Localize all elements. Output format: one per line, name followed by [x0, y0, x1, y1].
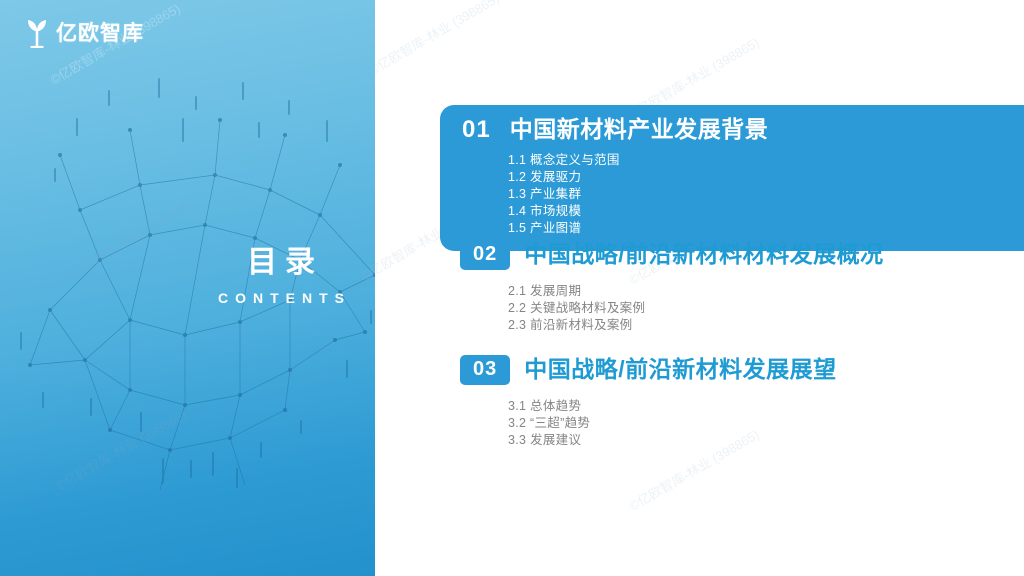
list-item[interactable]: 1.3 产业集群 [508, 186, 1024, 203]
list-item[interactable]: 1.5 产业图谱 [508, 220, 1024, 237]
list-item[interactable]: 1.1 概念定义与范围 [508, 152, 1024, 169]
list-item[interactable]: 1.4 市场规模 [508, 203, 1024, 220]
list-item[interactable]: 3.1 总体趋势 [508, 398, 1024, 415]
toc-title-en: CONTENTS [211, 290, 351, 306]
section-01-number: 01 [462, 118, 491, 142]
section-01-subitems: 1.1 概念定义与范围 1.2 发展驱力 1.3 产业集群 1.4 市场规模 1… [440, 152, 1024, 237]
list-item[interactable]: 1.2 发展驱力 [508, 169, 1024, 186]
section-03-number-badge: 03 [460, 355, 510, 385]
brand-logo: 亿欧智库 [24, 18, 144, 48]
section-03-title: 中国战略/前沿新材料发展展望 [524, 357, 836, 382]
list-item[interactable]: 2.1 发展周期 [508, 283, 1024, 300]
section-01-panel[interactable]: 01 中国新材料产业发展背景 1.1 概念定义与范围 1.2 发展驱力 1.3 … [440, 105, 1024, 251]
brand-logo-text: 亿欧智库 [56, 23, 144, 44]
list-item[interactable]: 2.3 前沿新材料及案例 [508, 317, 1024, 334]
watermark: ©亿欧智库-林业 (398865) [365, 0, 502, 78]
list-item[interactable]: 3.3 发展建议 [508, 432, 1024, 449]
toc-heading: 目录 CONTENTS [211, 246, 351, 306]
sprout-y-logo-icon [24, 18, 50, 48]
section-02-subitems: 2.1 发展周期 2.2 关键战略材料及案例 2.3 前沿新材料及案例 [440, 283, 1024, 334]
section-01-title: 中国新材料产业发展背景 [510, 117, 769, 142]
toc-section-03[interactable]: 03 中国战略/前沿新材料发展展望 3.1 总体趋势 3.2 “三超”趋势 3.… [440, 355, 1024, 449]
slide-root: ©亿欧智库-林业 (398865) ©亿欧智库-林业 (398865) ©亿欧智… [0, 0, 1024, 576]
section-03-header: 03 中国战略/前沿新材料发展展望 [440, 355, 1024, 385]
section-01-header: 01 中国新材料产业发展背景 [440, 117, 1024, 142]
toc-section-01[interactable]: 01 中国新材料产业发展背景 1.1 概念定义与范围 1.2 发展驱力 1.3 … [440, 105, 1024, 251]
section-02-number-badge: 02 [460, 240, 510, 270]
list-item[interactable]: 2.2 关键战略材料及案例 [508, 300, 1024, 317]
list-item[interactable]: 3.2 “三超”趋势 [508, 415, 1024, 432]
toc-title-cn: 目录 [211, 246, 351, 281]
section-02-header: 02 中国战略/前沿新材料材料发展概况 [440, 240, 1024, 270]
toc-section-02[interactable]: 02 中国战略/前沿新材料材料发展概况 2.1 发展周期 2.2 关键战略材料及… [440, 240, 1024, 334]
left-cover-panel: ©亿欧智库-林业 (398865) ©亿欧智库-林业 (398865) ©亿欧智… [0, 0, 375, 576]
toc-content-area: ©亿欧智库-林业 (398865) ©亿欧智库-林业 (398865) ©亿欧智… [375, 0, 1024, 576]
section-02-title: 中国战略/前沿新材料材料发展概况 [524, 242, 883, 267]
section-03-subitems: 3.1 总体趋势 3.2 “三超”趋势 3.3 发展建议 [440, 398, 1024, 449]
